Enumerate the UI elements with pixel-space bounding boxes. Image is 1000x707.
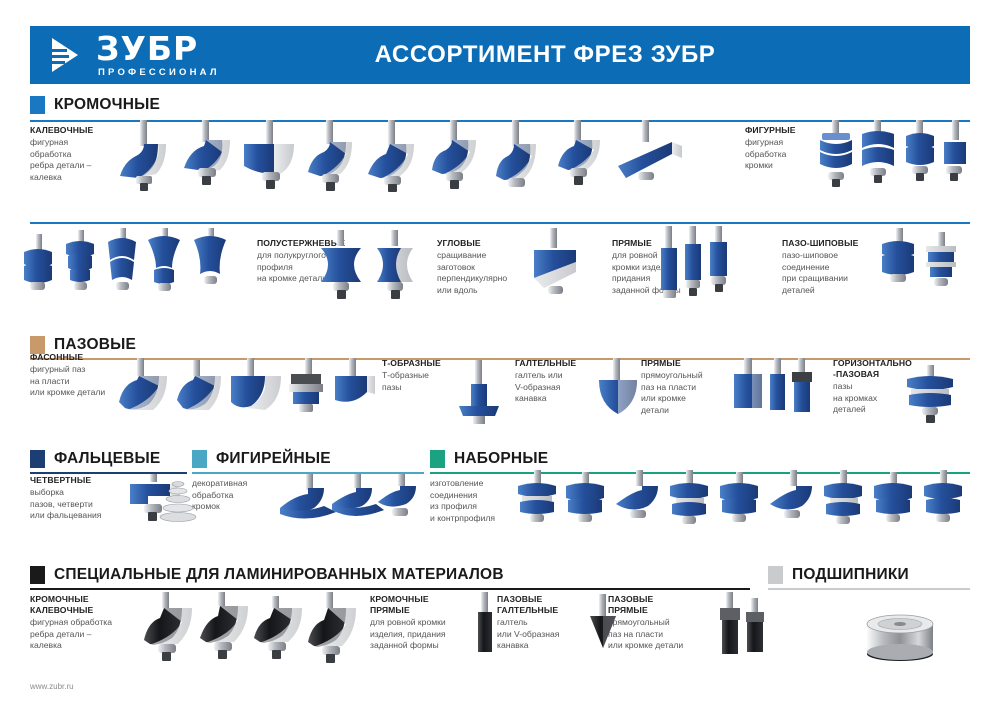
label-desc: для ровной кромки изделия, придания зада… [370, 617, 482, 652]
label-figurnye: ФИГУРНЫЕ фигурная обработка кромки [745, 125, 825, 172]
label-desc: Т-образные пазы [382, 370, 462, 393]
section-head-nabornye: НАБОРНЫЕ [430, 450, 548, 468]
label-title: КАЛЕВОЧНЫЕ [30, 125, 122, 136]
label-title: ПРЯМЫЕ [641, 358, 729, 369]
label-pryamye-paz: ПРЯМЫЕ прямоугольный паз на пласти или к… [641, 358, 729, 416]
brand-name: ЗУБР [96, 29, 198, 68]
label-krom-kalevochnye: КРОМОЧНЫЕ КАЛЕВОЧНЫЕ фигурная обработка … [30, 594, 142, 652]
label-chetvertnye: ЧЕТВЕРТНЫЕ выборка пазов, четверти или ф… [30, 475, 140, 522]
label-title: КРОМОЧНЫЕ КАЛЕВОЧНЫЕ [30, 594, 142, 616]
bit-row-laminat-kalevochnye [140, 592, 360, 670]
label-uglovye: УГЛОВЫЕ сращивание заготовок перпендикул… [437, 238, 535, 296]
brand-logo: ЗУБР ПРОФЕССИОНАЛ [30, 26, 270, 84]
label-title: ФИГУРНЫЕ [745, 125, 825, 136]
section-title: СПЕЦИАЛЬНЫЕ ДЛЯ ЛАМИНИРОВАННЫХ МАТЕРИАЛО… [54, 566, 504, 584]
label-title: ПАЗОВЫЕ ГАЛТЕЛЬНЫЕ [497, 594, 589, 616]
section-accent-chip [30, 566, 45, 584]
label-desc: изготовление соединения из профиля и кон… [430, 478, 522, 524]
page-header: ЗУБР ПРОФЕССИОНАЛ АССОРТИМЕНТ ФРЕЗ ЗУБР [30, 26, 970, 84]
bit-row-t-obraznye [455, 360, 515, 434]
label-title: ГАЛТЕЛЬНЫЕ [515, 358, 599, 369]
label-desc: галтель или V-образная канавка [497, 617, 589, 652]
section-title: ПОДШИПНИКИ [792, 566, 909, 584]
section-head-special-laminat: СПЕЦИАЛЬНЫЕ ДЛЯ ЛАМИНИРОВАННЫХ МАТЕРИАЛО… [30, 566, 504, 584]
label-desc: фигурная обработка ребра детали – калевк… [30, 137, 122, 183]
bit-row-kromochnye-2a [20, 228, 260, 308]
label-nabornye-desc: изготовление соединения из профиля и кон… [430, 477, 522, 524]
label-paz-pryamye: ПАЗОВЫЕ ПРЯМЫЕ прямоугольный паз на плас… [608, 594, 716, 652]
bit-row-kromochnye-1 [118, 120, 738, 200]
bit-row-figireynye [278, 474, 426, 532]
label-pazo-shipovye: ПАЗО-ШИПОВЫЕ пазо-шиповое соединение при… [782, 238, 874, 296]
section-accent-chip [30, 450, 45, 468]
bit-laminat-pazovye-galtelnye [588, 594, 618, 658]
section-title: ФИГИРЕЙНЫЕ [216, 450, 331, 468]
label-title: Т-ОБРАЗНЫЕ [382, 358, 462, 369]
brand-tagline: ПРОФЕССИОНАЛ [98, 67, 220, 78]
section-rule-kromochnye-2 [30, 222, 970, 224]
label-paz-galtelnye: ПАЗОВЫЕ ГАЛТЕЛЬНЫЕ галтель или V-образна… [497, 594, 589, 652]
section-accent-chip [768, 566, 783, 584]
bit-row-nabornye [516, 470, 971, 532]
section-head-faltsevye: ФАЛЬЦЕВЫЕ [30, 450, 160, 468]
label-title: ПАЗОВЫЕ ПРЯМЫЕ [608, 594, 716, 616]
bit-row-figurnye [818, 120, 973, 200]
section-head-kromochnye: КРОМОЧНЫЕ [30, 96, 160, 114]
page-title: АССОРТИМЕНТ ФРЕЗ ЗУБР [270, 41, 970, 69]
label-desc: декоративная обработка кромок [192, 478, 278, 513]
label-desc: сращивание заготовок перпендикулярно или… [437, 250, 535, 296]
label-t-obraznye: Т-ОБРАЗНЫЕ Т-образные пазы [382, 358, 462, 393]
section-head-podshipniki: ПОДШИПНИКИ [768, 566, 909, 584]
bit-row-galtelnye [593, 358, 653, 434]
section-accent-chip [430, 450, 445, 468]
label-title: ЧЕТВЕРТНЫЕ [30, 475, 140, 486]
label-desc: прямоугольный паз на пласти или кромке д… [641, 370, 729, 416]
label-figireynye-desc: декоративная обработка кромок [192, 477, 278, 513]
bit-laminat-kromochnye-pryamye [473, 592, 497, 662]
bit-row-polusterzhnevye [315, 230, 425, 312]
label-desc: выборка пазов, четверти или фальцевания [30, 487, 140, 522]
label-desc: пазо-шиповое соединение при сращивании д… [782, 250, 874, 296]
bit-row-pazo-shipovye [880, 228, 975, 308]
bit-row-gorizontalno-pazovaya [905, 365, 980, 430]
section-accent-chip [30, 96, 45, 114]
section-accent-chip [192, 450, 207, 468]
bit-row-uglovye [530, 228, 610, 314]
section-title: НАБОРНЫЕ [454, 450, 548, 468]
label-desc: фигурная обработка кромки [745, 137, 825, 172]
label-title: ПАЗО-ШИПОВЫЕ [782, 238, 874, 249]
label-desc: фигурная обработка ребра детали – калевк… [30, 617, 142, 652]
label-desc: галтель или V-образная канавка [515, 370, 599, 405]
label-krom-pryamye: КРОМОЧНЫЕ ПРЯМЫЕ для ровной кромки издел… [370, 594, 482, 652]
section-title: КРОМОЧНЫЕ [54, 96, 160, 114]
section-rule-podshipniki [768, 588, 970, 590]
bit-row-pryamye-kromka [655, 226, 755, 316]
label-desc: прямоугольный паз на пласти или кромке д… [608, 617, 716, 652]
label-galtelnye: ГАЛТЕЛЬНЫЕ галтель или V-образная канавк… [515, 358, 599, 405]
brand-text: ЗУБР ПРОФЕССИОНАЛ [96, 32, 220, 78]
footer-url[interactable]: www.zubr.ru [30, 682, 74, 691]
bit-row-fasonnye [115, 358, 375, 436]
section-rule-special-laminat [30, 588, 750, 590]
section-title: ФАЛЬЦЕВЫЕ [54, 450, 160, 468]
section-head-figireynye: ФИГИРЕЙНЫЕ [192, 450, 331, 468]
bit-row-pryamye-paz [730, 358, 835, 436]
label-title: УГЛОВЫЕ [437, 238, 535, 249]
label-kalevochnye: КАЛЕВОЧНЫЕ фигурная обработка ребра дета… [30, 125, 122, 183]
bearing-stack [158, 476, 198, 526]
bearing-image [855, 610, 945, 665]
label-title: КРОМОЧНЫЕ ПРЯМЫЕ [370, 594, 482, 616]
arrow-right-icon [48, 34, 90, 76]
bit-laminat-pazovye-pryamye [718, 592, 768, 664]
